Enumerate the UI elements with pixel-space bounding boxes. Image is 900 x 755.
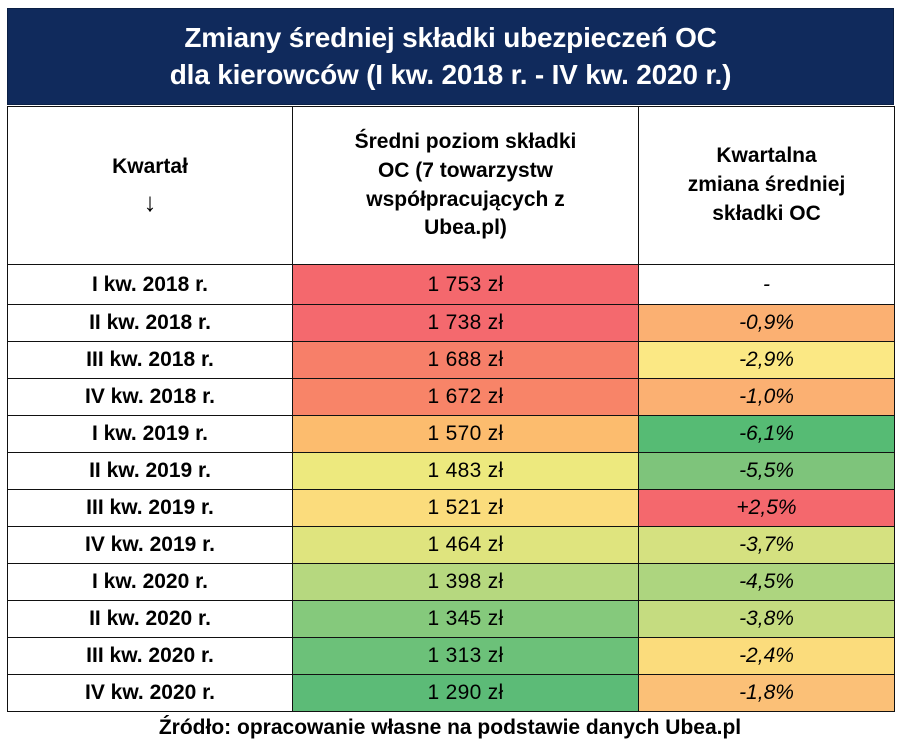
cell-change: -4,5%	[639, 564, 895, 601]
cell-quarter: IV kw. 2019 r.	[8, 527, 293, 564]
cell-quarter: I kw. 2019 r.	[8, 416, 293, 453]
cell-change: -	[639, 265, 895, 305]
table-header: Kwartał ↓ Średni poziom składki OC (7 to…	[8, 107, 895, 265]
table-row: I kw. 2020 r.1 398 zł-4,5%	[8, 564, 895, 601]
cell-premium: 1 672 zł	[293, 379, 639, 416]
source-note: Źródło: opracowanie własne na podstawie …	[0, 714, 900, 742]
cell-change: -2,4%	[639, 638, 895, 675]
column-header-change-line-2: zmiana średniej	[639, 171, 894, 200]
table-row: I kw. 2018 r.1 753 zł-	[8, 265, 895, 305]
cell-premium: 1 464 zł	[293, 527, 639, 564]
cell-premium: 1 738 zł	[293, 305, 639, 342]
cell-change: -6,1%	[639, 416, 895, 453]
column-header-premium-line-1: Średni poziom składki	[293, 128, 638, 157]
title-banner: Zmiany średniej składki ubezpieczeń OC d…	[7, 8, 894, 105]
cell-quarter: III kw. 2018 r.	[8, 342, 293, 379]
column-header-quarter-label: Kwartał	[8, 153, 292, 182]
cell-quarter: IV kw. 2020 r.	[8, 675, 293, 712]
cell-quarter: I kw. 2018 r.	[8, 265, 293, 305]
column-header-premium: Średni poziom składki OC (7 towarzystw w…	[293, 107, 639, 265]
cell-quarter: III kw. 2019 r.	[8, 490, 293, 527]
table-row: IV kw. 2019 r.1 464 zł-3,7%	[8, 527, 895, 564]
title-line-1: Zmiany średniej składki ubezpieczeń OC	[184, 21, 716, 55]
table-row: II kw. 2019 r.1 483 zł-5,5%	[8, 453, 895, 490]
arrow-down-icon: ↓	[8, 186, 292, 219]
table-row: II kw. 2018 r.1 738 zł-0,9%	[8, 305, 895, 342]
cell-change: -2,9%	[639, 342, 895, 379]
cell-premium: 1 570 zł	[293, 416, 639, 453]
table-row: IV kw. 2020 r.1 290 zł-1,8%	[8, 675, 895, 712]
cell-change: -5,5%	[639, 453, 895, 490]
cell-premium: 1 290 zł	[293, 675, 639, 712]
table-row: III kw. 2020 r.1 313 zł-2,4%	[8, 638, 895, 675]
cell-premium: 1 753 zł	[293, 265, 639, 305]
cell-premium: 1 483 zł	[293, 453, 639, 490]
table-row: II kw. 2020 r.1 345 zł-3,8%	[8, 601, 895, 638]
cell-premium: 1 521 zł	[293, 490, 639, 527]
cell-premium: 1 345 zł	[293, 601, 639, 638]
cell-quarter: I kw. 2020 r.	[8, 564, 293, 601]
cell-quarter: III kw. 2020 r.	[8, 638, 293, 675]
cell-quarter: II kw. 2020 r.	[8, 601, 293, 638]
table-row: IV kw. 2018 r.1 672 zł-1,0%	[8, 379, 895, 416]
cell-premium: 1 313 zł	[293, 638, 639, 675]
table-row: III kw. 2018 r.1 688 zł-2,9%	[8, 342, 895, 379]
table-row: I kw. 2019 r.1 570 zł-6,1%	[8, 416, 895, 453]
column-header-quarter: Kwartał ↓	[8, 107, 293, 265]
column-header-change-line-1: Kwartalna	[639, 142, 894, 171]
cell-quarter: IV kw. 2018 r.	[8, 379, 293, 416]
cell-change: -3,7%	[639, 527, 895, 564]
title-line-2: dla kierowców (I kw. 2018 r. - IV kw. 20…	[170, 58, 731, 92]
cell-change: +2,5%	[639, 490, 895, 527]
infographic-table-page: Zmiany średniej składki ubezpieczeń OC d…	[0, 0, 900, 755]
cell-change: -0,9%	[639, 305, 895, 342]
table-body: I kw. 2018 r.1 753 zł-II kw. 2018 r.1 73…	[8, 265, 895, 712]
cell-change: -1,8%	[639, 675, 895, 712]
column-header-premium-line-4: Ubea.pl)	[293, 214, 638, 243]
cell-change: -1,0%	[639, 379, 895, 416]
column-header-premium-line-2: OC (7 towarzystw	[293, 157, 638, 186]
column-header-premium-line-3: współpracujących z	[293, 186, 638, 215]
header-row: Kwartał ↓ Średni poziom składki OC (7 to…	[8, 107, 895, 265]
column-header-change: Kwartalna zmiana średniej składki OC	[639, 107, 895, 265]
cell-change: -3,8%	[639, 601, 895, 638]
cell-quarter: II kw. 2018 r.	[8, 305, 293, 342]
cell-premium: 1 398 zł	[293, 564, 639, 601]
table-row: III kw. 2019 r.1 521 zł+2,5%	[8, 490, 895, 527]
cell-quarter: II kw. 2019 r.	[8, 453, 293, 490]
cell-premium: 1 688 zł	[293, 342, 639, 379]
column-header-change-line-3: składki OC	[639, 200, 894, 229]
premium-data-table: Kwartał ↓ Średni poziom składki OC (7 to…	[7, 106, 895, 712]
